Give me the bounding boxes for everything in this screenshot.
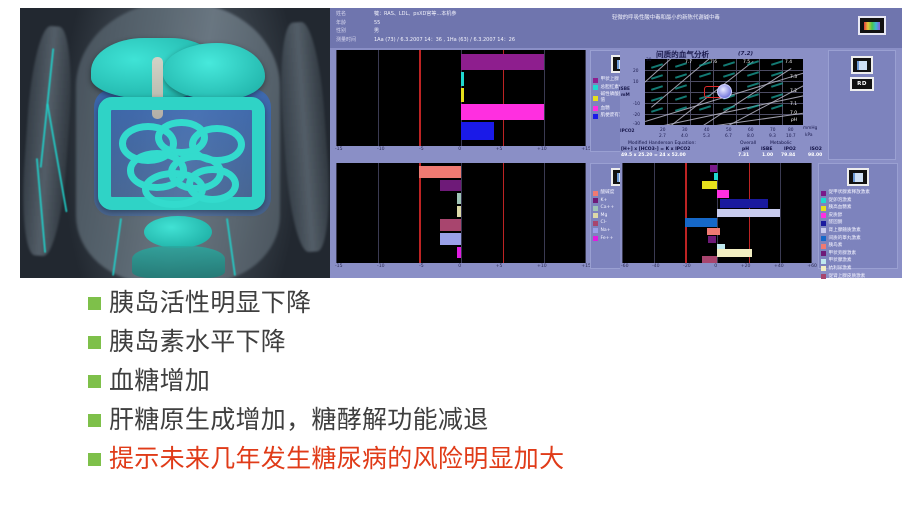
legend-swatch — [593, 206, 598, 211]
chart-top-left: -15 -10 -5 0 +5 +10 +15 甲状上腺 总胆红素值ATTG升降… — [334, 50, 616, 160]
ph-label: 7.3 — [790, 75, 797, 80]
diagnosis-text: 轻微的呼吸性酸中毒和最小的新陈代谢碱中毒 — [612, 14, 792, 22]
field-key: 年龄 — [336, 19, 374, 28]
ph-label: 7.0 — [790, 111, 797, 116]
tick: 0 — [458, 264, 461, 269]
tick: +10 — [537, 264, 547, 269]
x-tick-mmhg: 50 — [726, 128, 731, 133]
bar-3[interactable] — [717, 190, 729, 198]
x-axis-labels: -15 -10 -5 0 +5 +10 +15 — [334, 147, 592, 152]
legend-swatch — [593, 114, 598, 119]
legend-item: 胰高血糖素 — [821, 205, 895, 211]
ph-label: 7.2 — [790, 89, 797, 94]
legend-label: 胰岛素 — [829, 243, 843, 249]
blood-gas-nomogram: 间质的血气分析 (7.2) — [620, 50, 825, 160]
document-icon[interactable] — [851, 56, 873, 74]
legend-swatch — [593, 78, 598, 83]
legend-label: 血糖 — [601, 106, 610, 112]
legend-item: 促甲状腺素释放激素 — [821, 190, 895, 196]
tick: +5 — [496, 264, 503, 269]
equation-values: 49.5 x 25.20 = 24 x 52.00 — [621, 153, 686, 159]
software-screenshot: 姓名犍：RAS、LDL、psXD官等…本机参 年龄55 性别男 测量时间1Aa … — [20, 8, 902, 278]
tick: -20 — [683, 264, 691, 269]
field-key: 测量时间 — [336, 36, 374, 45]
tick: -5 — [419, 264, 424, 269]
legend-swatch — [821, 206, 826, 211]
bullet-marker-icon — [88, 375, 101, 388]
x-tick-mmhg: 20 — [660, 128, 665, 133]
bullet-marker-icon — [88, 453, 101, 466]
legend-label: 促卵泡激素 — [829, 198, 852, 204]
bullet-item: 血糖增加 — [88, 366, 888, 396]
legend-swatch — [593, 191, 598, 196]
legend-label: 醛固酮 — [829, 220, 843, 226]
legend-swatch — [593, 236, 598, 241]
legend-label: 甲状上腺 — [601, 77, 619, 83]
legend-swatch — [821, 251, 826, 256]
tick: +40 — [774, 264, 784, 269]
x-tick-kpa: 10.7 — [786, 134, 796, 139]
legend-swatch — [821, 213, 826, 218]
legend-label: 间质的睾丸激素 — [829, 236, 861, 242]
bar-3[interactable] — [461, 104, 544, 120]
bar-3[interactable] — [457, 206, 461, 217]
x-tick-mmhg: 60 — [748, 128, 753, 133]
legend-label: 胰高血糖素 — [829, 205, 852, 211]
y-axis-unit: mM — [621, 93, 630, 98]
bar-6[interactable] — [685, 218, 717, 227]
ph-label: 7.5 — [743, 60, 750, 65]
bar-5[interactable] — [440, 233, 461, 245]
bar-1[interactable] — [714, 173, 718, 180]
x-tick-kpa: 4.0 — [681, 134, 688, 139]
y-axis-label: ISBE — [619, 87, 630, 92]
tick: -15 — [335, 264, 343, 269]
field-value: 1Aa (73) / 6.3.2007 14：36 , 1Ha (63) / 6… — [374, 36, 515, 45]
bullet-item: 胰岛活性明显下降 — [88, 288, 888, 318]
bar-5[interactable] — [717, 209, 780, 217]
tick: -15 — [335, 147, 343, 152]
y-tick: -30 — [633, 122, 640, 127]
tick: -5 — [419, 147, 424, 152]
tick: +60 — [807, 264, 817, 269]
legend-swatch — [821, 236, 826, 241]
result-value-iso2: 98.00 — [808, 153, 822, 159]
legend-swatch — [821, 228, 826, 233]
result-value-ipo2: 79.84 — [781, 153, 795, 159]
legend-label: 促甲状腺素释放激素 — [829, 190, 870, 196]
bullet-text: 肝糖原生成增加，糖酵解功能减退 — [109, 405, 489, 435]
legend-item: 促卵泡激素 — [821, 198, 895, 204]
tick: -60 — [621, 264, 629, 269]
bullet-marker-icon — [88, 414, 101, 427]
bar-0[interactable] — [419, 166, 461, 178]
patient-fields: 姓名犍：RAS、LDL、psXD官等…本机参 年龄55 性别男 测量时间1Aa … — [336, 10, 515, 44]
bullet-text: 血糖增加 — [109, 366, 210, 396]
tick: -40 — [652, 264, 660, 269]
y-tick: 10 — [633, 80, 638, 85]
ph-axis-label: pH — [791, 118, 797, 123]
document-icon[interactable] — [847, 168, 869, 186]
bar-11[interactable] — [702, 256, 717, 263]
nomogram-title-suffix: (7.2) — [738, 51, 753, 57]
x-tick-mmhg: 30 — [682, 128, 687, 133]
legend-swatch — [821, 221, 826, 226]
bar-4[interactable] — [720, 199, 768, 208]
bullet-text: 胰岛素水平下降 — [109, 327, 286, 357]
bar-2[interactable] — [702, 181, 717, 189]
x-axis-labels: -15 -10 -5 0 +5 +10 +15 — [334, 264, 592, 269]
rd-button[interactable]: RD — [850, 77, 874, 91]
bullet-text: 提示未来几年发生糖尿病的风险明显加大 — [109, 444, 564, 474]
analysis-software-window: 姓名犍：RAS、LDL、psXD官等…本机参 年龄55 性别男 测量时间1Aa … — [330, 8, 902, 278]
x-tick-kpa: 9.3 — [769, 134, 776, 139]
x-unit-mmhg: mmHg — [803, 126, 817, 131]
legend-label: Cl- — [601, 220, 607, 226]
legend-label: K+ — [601, 198, 608, 204]
field-key: 性别 — [336, 27, 374, 36]
chart-bottom-right: -60 -40 -20 0 +20 +40 +60 促甲状腺素释放激素 促卵泡激… — [620, 163, 898, 275]
legend-swatch — [593, 96, 598, 101]
tick: -10 — [377, 147, 385, 152]
legend-item: 甲状腺激素 — [821, 258, 895, 264]
legend-swatch — [821, 191, 826, 196]
bar-4[interactable] — [461, 122, 494, 140]
tick: -10 — [377, 264, 385, 269]
slide: 姓名犍：RAS、LDL、psXD官等…本机参 年龄55 性别男 测量时间1Aa … — [0, 0, 922, 514]
legend-label: Fe++ — [601, 236, 614, 242]
x-tick-mmhg: 80 — [788, 128, 793, 133]
ph-label: 7.4 — [785, 60, 792, 65]
legend-label: 肾上腺髓质激素 — [829, 228, 861, 234]
legend-item: 皮质醇 — [821, 213, 895, 219]
ph-label: 7.1 — [790, 102, 797, 107]
legend-swatch — [821, 244, 826, 249]
legend-swatch — [821, 198, 826, 203]
tool-side-panel: RD — [828, 50, 896, 160]
field-value: 犍：RAS、LDL、psXD官等…本机参 — [374, 10, 456, 19]
field-key: 姓名 — [336, 10, 374, 19]
ph-label: 7.6 — [710, 60, 717, 65]
x-tick-kpa: 2.7 — [659, 134, 666, 139]
legend-swatch — [593, 213, 598, 218]
chart-bottom-left: -15 -10 -5 0 +5 +10 +15 酸碱度 K+ Ca++ Mg C — [334, 163, 616, 275]
bullet-item: 肝糖原生成增加，糖酵解功能减退 — [88, 405, 888, 435]
ph-label: 7.7 — [685, 60, 692, 65]
y-tick: -10 — [633, 102, 640, 107]
patient-header: 姓名犍：RAS、LDL、psXD官等…本机参 年龄55 性别男 测量时间1Aa … — [330, 8, 902, 48]
tick: +20 — [741, 264, 751, 269]
legend-item: 甲状旁腺激素 — [821, 251, 895, 257]
plot-area[interactable] — [622, 163, 812, 263]
legend-item: 抗利尿激素 — [821, 266, 895, 272]
x-tick-mmhg: 40 — [704, 128, 709, 133]
x-tick-kpa: 5.3 — [703, 134, 710, 139]
legend-swatch — [821, 274, 826, 279]
bar-10[interactable] — [717, 249, 752, 257]
anatomy-3d-render — [20, 8, 330, 278]
bullet-text: 胰岛活性明显下降 — [109, 288, 311, 318]
tick: 0 — [458, 147, 461, 152]
bar-1[interactable] — [440, 180, 461, 191]
bullet-item-highlight: 提示未来几年发生糖尿病的风险明显加大 — [88, 444, 888, 474]
legend-label: Na+ — [601, 228, 611, 234]
y-tick: 20 — [633, 69, 638, 74]
field-value: 55 — [374, 19, 380, 28]
legend-label: 皮质醇 — [829, 213, 843, 219]
legend-swatch — [821, 259, 826, 264]
tick: +5 — [496, 147, 503, 152]
bullet-item: 胰岛素水平下降 — [88, 327, 888, 357]
plot-area[interactable] — [336, 50, 586, 146]
result-value-isbe: 1.00 — [762, 153, 773, 159]
bar-0[interactable] — [710, 165, 717, 172]
legend-swatch — [593, 228, 598, 233]
legend-label: 抗利尿激素 — [829, 266, 852, 272]
legend-label: 促肾上腺皮质激素 — [829, 274, 866, 280]
legend-label: 酸碱度 — [601, 190, 615, 196]
legend-item: 醛固酮 — [821, 220, 895, 226]
legend-label: Ca++ — [601, 205, 615, 211]
x-axis-labels: -60 -40 -20 0 +20 +40 +60 — [620, 264, 818, 269]
y-tick: -20 — [633, 113, 640, 118]
legend-bottom-right: 促甲状腺素释放激素 促卵泡激素 胰高血糖素 皮质醇 醛固酮 肾上腺髓质激素 间质… — [818, 163, 898, 269]
x-unit-kpa: kPa — [805, 133, 813, 138]
y-tick: 30 — [646, 58, 651, 63]
legend-item: 间质的睾丸激素 — [821, 236, 895, 242]
plot-area[interactable] — [336, 163, 586, 263]
bullet-list: 胰岛活性明显下降 胰岛素水平下降 血糖增加 肝糖原生成增加，糖酵解功能减退 提示… — [88, 288, 888, 483]
tick: +10 — [537, 147, 547, 152]
nomogram-plot[interactable]: 7.7 7.6 7.5 7.4 7.3 7.2 7.1 7.0 pH — [645, 59, 803, 125]
legend-label: 甲状腺激素 — [829, 258, 852, 264]
legend-item: 肾上腺髓质激素 — [821, 228, 895, 234]
legend-swatch — [593, 85, 598, 90]
legend-swatch — [821, 266, 826, 271]
bullet-marker-icon — [88, 297, 101, 310]
bar-7[interactable] — [707, 228, 720, 235]
bar-4[interactable] — [440, 219, 461, 231]
result-value-ph: 7.31 — [738, 153, 749, 159]
bar-6[interactable] — [457, 247, 461, 258]
x-tick-mmhg: 70 — [770, 128, 775, 133]
x-tick-kpa: 6.7 — [725, 134, 732, 139]
legend-item: 促肾上腺皮质激素 — [821, 274, 895, 280]
legend-swatch — [593, 221, 598, 226]
color-bar-icon[interactable] — [858, 16, 886, 35]
x-axis-label: IPCO2 — [620, 129, 635, 134]
legend-swatch — [593, 106, 598, 111]
measurement-point[interactable] — [717, 84, 732, 99]
bar-0[interactable] — [461, 54, 544, 70]
field-value: 男 — [374, 27, 379, 36]
bullet-marker-icon — [88, 336, 101, 349]
small-intestine — [116, 119, 246, 197]
bar-1[interactable] — [461, 72, 464, 86]
legend-label: 甲状旁腺激素 — [829, 251, 857, 257]
tick: 0 — [714, 264, 717, 269]
legend-swatch — [593, 198, 598, 203]
legend-item: 胰岛素 — [821, 243, 895, 249]
bar-2[interactable] — [461, 88, 464, 102]
bar-2[interactable] — [457, 193, 461, 204]
x-tick-kpa: 8.0 — [747, 134, 754, 139]
legend-label: Mg — [601, 213, 608, 219]
bar-8[interactable] — [708, 236, 716, 243]
